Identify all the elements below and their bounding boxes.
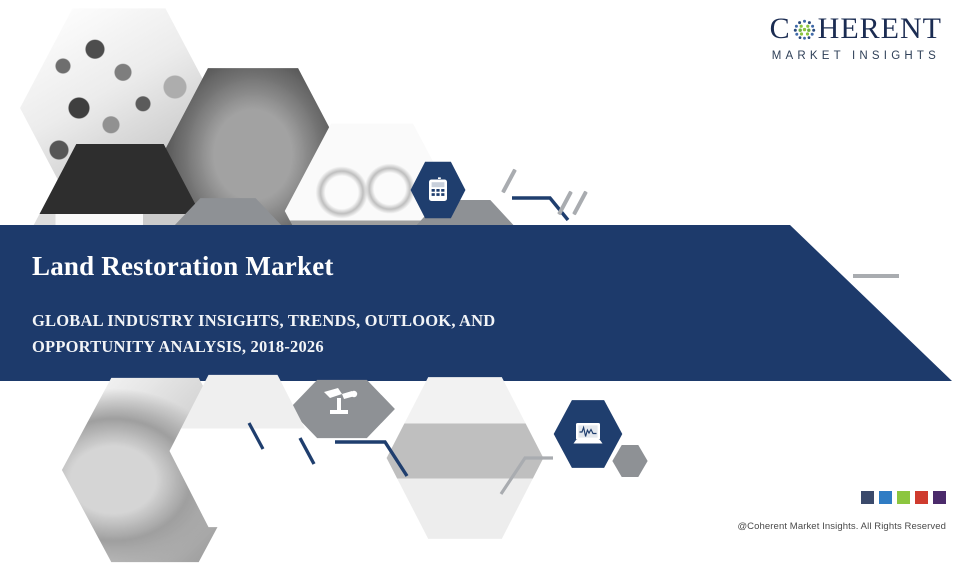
page-title: Land Restoration Market — [32, 251, 960, 282]
logo[interactable]: C — [770, 14, 942, 62]
banner-content: Land Restoration Market GLOBAL INDUSTRY … — [32, 251, 960, 359]
logo-letter-c: C — [770, 14, 791, 44]
report-cover: Land Restoration Market GLOBAL INDUSTRY … — [0, 0, 960, 540]
swatch-red — [915, 491, 928, 504]
logo-letters-herent: HERENT — [818, 14, 942, 44]
logo-tagline: MARKET INSIGHTS — [770, 50, 942, 62]
decor-gray-angle-bottom — [495, 448, 615, 500]
swatch-purple — [933, 491, 946, 504]
swatch-blue — [879, 491, 892, 504]
subtitle-line-2: OPPORTUNITY ANALYSIS, 2018-2026 — [32, 337, 324, 356]
calculator-tablet-icon — [427, 177, 449, 203]
decor-navy-slash-bottom-left — [296, 434, 322, 470]
subtitle-line-1: GLOBAL INDUSTRY INSIGHTS, TRENDS, OUTLOO… — [32, 311, 495, 330]
swatch-navy — [861, 491, 874, 504]
decor-gray-bar-right — [853, 274, 899, 278]
page-subtitle: GLOBAL INDUSTRY INSIGHTS, TRENDS, OUTLOO… — [32, 308, 712, 359]
logo-wordmark: C — [770, 14, 942, 44]
decor-navy-angle-bottom — [325, 430, 435, 490]
title-banner: Land Restoration Market GLOBAL INDUSTRY … — [0, 225, 960, 381]
laptop-ecg-monitor-icon — [572, 420, 604, 448]
decor-gray-hexagon-small — [612, 444, 648, 478]
globe-dots-icon — [792, 17, 817, 42]
copyright-notice: @Coherent Market Insights. All Rights Re… — [737, 521, 946, 532]
color-swatch-row — [861, 491, 946, 504]
decor-navy-slash-mid-right — [246, 420, 270, 454]
swatch-green — [897, 491, 910, 504]
surgical-robot-icon — [318, 386, 364, 420]
